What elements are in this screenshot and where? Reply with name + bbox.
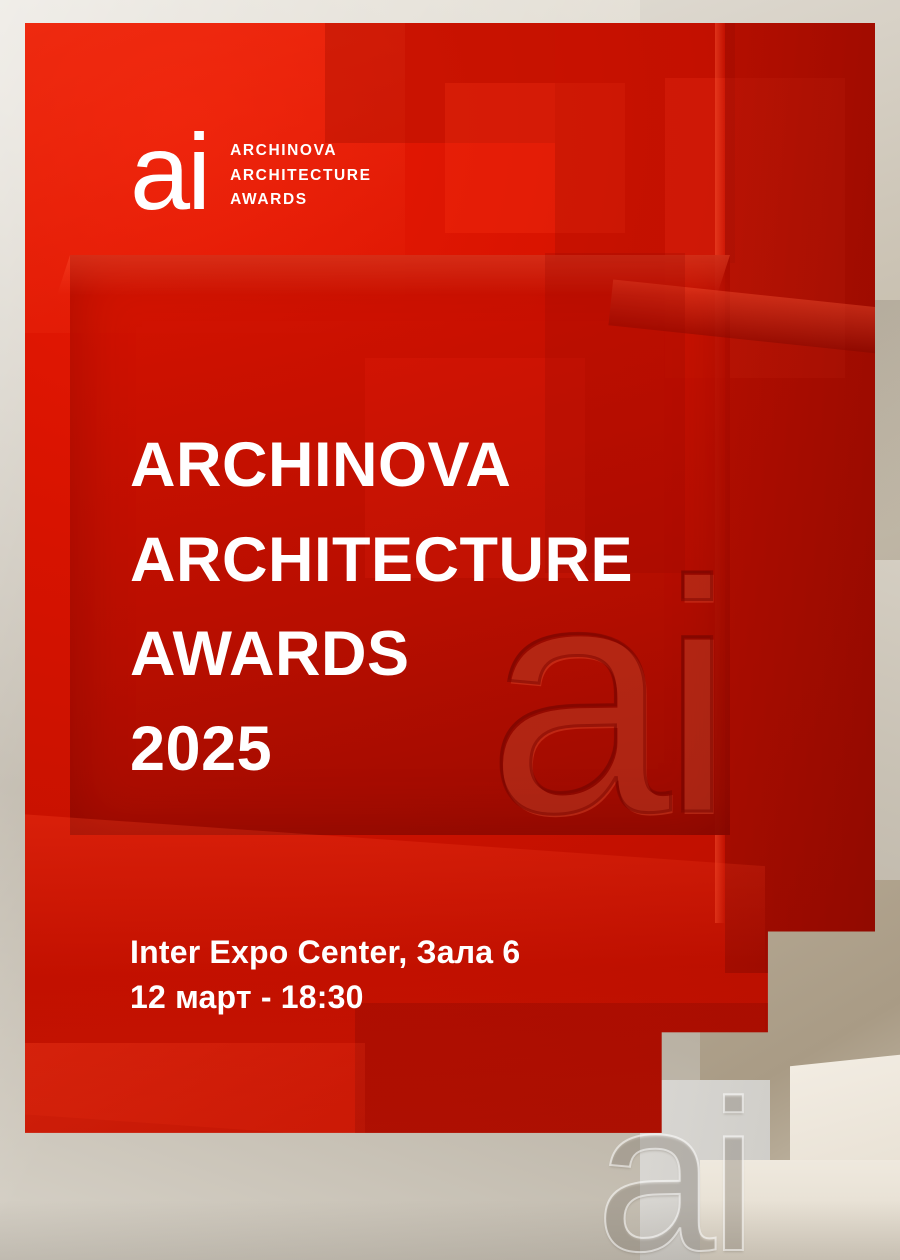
event-datetime: 12 март - 18:30	[130, 975, 750, 1020]
headline-line-2: ARCHITECTURE	[130, 513, 770, 608]
event-venue: Inter Expo Center, Зала 6	[130, 930, 750, 975]
headline-line-3: AWARDS	[130, 607, 770, 702]
logo-lockup: ai ARCHINOVA ARCHITECTURE AWARDS	[130, 128, 372, 217]
poster-content: ai ARCHINOVA ARCHITECTURE AWARDS ARCHINO…	[0, 0, 900, 1260]
logo-word-line-2: ARCHITECTURE	[230, 168, 371, 184]
headline-line-4-year: 2025	[130, 702, 770, 797]
event-details: Inter Expo Center, Зала 6 12 март - 18:3…	[130, 930, 750, 1021]
event-poster: ai ai ai ARCHINOVA ARCHITECTURE AWARDS	[0, 0, 900, 1260]
logo-wordmark: ARCHINOVA ARCHITECTURE AWARDS	[230, 137, 371, 208]
page-title: ARCHINOVA ARCHITECTURE AWARDS 2025	[130, 418, 770, 796]
logo-word-line-3: AWARDS	[230, 192, 371, 208]
ai-monogram-icon: ai	[130, 128, 208, 217]
headline-line-1: ARCHINOVA	[130, 418, 770, 513]
logo-word-line-1: ARCHINOVA	[230, 143, 371, 159]
